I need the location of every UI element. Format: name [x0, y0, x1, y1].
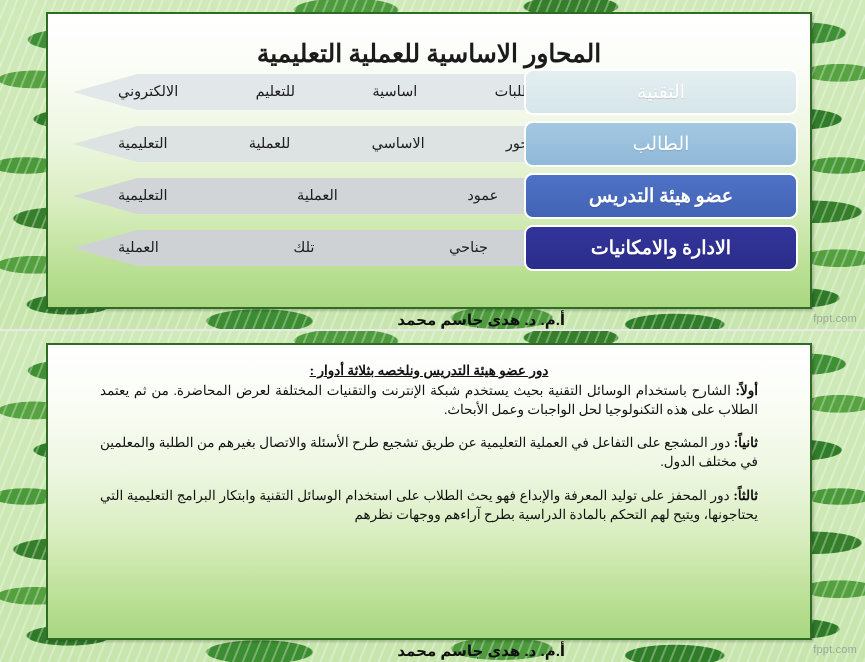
slide-1: المحاور الاساسية للعملية التعليمية وهي م…: [0, 0, 865, 331]
slide-2-content-panel: دور عضو هيئة التدريس ونلخصه بثلاثة أدوار…: [46, 343, 812, 640]
presentation-page: المحاور الاساسية للعملية التعليمية وهي م…: [0, 0, 865, 662]
section-heading: دور عضو هيئة التدريس ونلخصه بثلاثة أدوار…: [100, 363, 758, 379]
category-chip-faculty-member[interactable]: عضو هيئة التدريس: [524, 173, 798, 219]
diagram-row: وهما جناحي تلك العملية الادارة والامكاني…: [48, 222, 810, 274]
paragraph-text: دور المشجع على التفاعل في العملية التعلي…: [100, 435, 758, 469]
paragraph-text: الشارح باستخدام الوسائل التقنية بحيث يست…: [100, 383, 758, 417]
author-footer: أ.م. د. هدى جاسم محمد: [397, 642, 565, 660]
diagram-row: وهي متطلبات اساسية للتعليم الالكتروني ال…: [48, 66, 810, 118]
brand-watermark: fppt.com: [813, 313, 857, 325]
slide-2: دور عضو هيئة التدريس ونلخصه بثلاثة أدوار…: [0, 331, 865, 662]
paragraph-lead: ثانياً:: [734, 435, 758, 450]
category-chip-administration[interactable]: الادارة والامكانيات: [524, 225, 798, 271]
slide-1-content-panel: المحاور الاساسية للعملية التعليمية وهي م…: [46, 12, 812, 309]
brand-watermark: fppt.com: [813, 644, 857, 656]
diagram-row: وهو عمود العملية التعليمية عضو هيئة التد…: [48, 170, 810, 222]
paragraph-text: دور المحفز على توليد المعرفة والإبداع فه…: [100, 488, 758, 522]
paragraph-third: ثالثاً: دور المحفز على توليد المعرفة وال…: [100, 486, 758, 524]
author-footer: أ.م. د. هدى جاسم محمد: [397, 311, 565, 329]
paragraph-lead: ثالثاً:: [733, 488, 758, 503]
page-title: المحاور الاساسية للعملية التعليمية: [48, 39, 810, 69]
diagram-row: وهو المحور الاساسي للعملية التعليمية الط…: [48, 118, 810, 170]
paragraph-second: ثانياً: دور المشجع على التفاعل في العملي…: [100, 433, 758, 471]
category-chip-technology[interactable]: التقنية: [524, 69, 798, 115]
category-chip-student[interactable]: الطالب: [524, 121, 798, 167]
paragraph-lead: أولاً:: [736, 383, 758, 398]
body-text-block: دور عضو هيئة التدريس ونلخصه بثلاثة أدوار…: [100, 363, 758, 538]
diagram-rows: وهي متطلبات اساسية للتعليم الالكتروني ال…: [48, 66, 810, 274]
paragraph-first: أولاً: الشارح باستخدام الوسائل التقنية ب…: [100, 381, 758, 419]
